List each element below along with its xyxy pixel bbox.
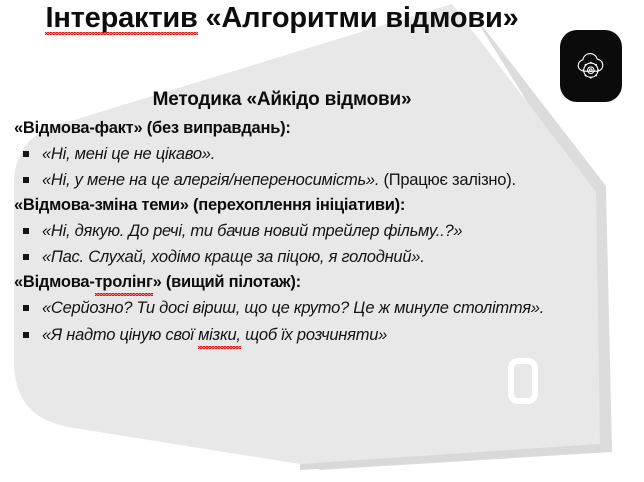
bullet-quote: «Серйозно? Ти досі віриш, що це круто? Ц… <box>42 299 544 317</box>
cloud-gear-icon-badge[interactable] <box>560 30 622 102</box>
bullet-quote-flagged-word: мізки, <box>198 322 241 348</box>
section-bullet-list: «Ні, дякую. До речі, ти бачив новий трей… <box>12 218 636 270</box>
section-heading-prefix: «Відмова- <box>14 273 95 291</box>
slide-canvas: Інтерактив «Алгоритми відмови» Методика … <box>0 0 644 482</box>
section-bullet-list: «Ні, мені це не цікаво». «Ні, у мене на … <box>12 141 636 193</box>
slide-title-rest: «Алгоритми відмови» <box>198 2 519 34</box>
bullet-note: (Працює залізно). <box>379 171 516 189</box>
cloud-gear-icon <box>571 46 611 86</box>
slide-title: Інтерактив «Алгоритми відмови» <box>32 2 532 35</box>
slide-title-flagged-word: Інтерактив <box>45 2 197 35</box>
list-item: «Я надто ціную свої мізки, щоб їх розчин… <box>12 322 636 348</box>
section-heading: «Відмова-зміна теми» (перехоплення ініці… <box>12 193 636 218</box>
slide-subtitle: Методика «Айкідо відмови» <box>32 89 532 111</box>
slide-body: «Відмова-факт» (без виправдань): «Ні, ме… <box>12 116 636 348</box>
bullet-quote-pre: «Я надто ціную свої <box>42 326 198 344</box>
decorative-rounded-rect <box>508 358 538 404</box>
section-heading-suffix: » (вищий пілотаж): <box>153 273 301 291</box>
bullet-quote-post: щоб їх розчиняти» <box>241 326 387 344</box>
section-heading: «Відмова-тролінг» (вищий пілотаж): <box>12 270 636 295</box>
list-item: «Ні, дякую. До речі, ти бачив новий трей… <box>12 218 636 244</box>
section-refusal-topic-change: «Відмова-зміна теми» (перехоплення ініці… <box>12 193 636 270</box>
bullet-quote: «Пас. Слухай, ходімо краще за піцою, я г… <box>42 248 425 266</box>
section-bullet-list: «Серйозно? Ти досі віриш, що це круто? Ц… <box>12 295 636 347</box>
list-item: «Ні, у мене на це алергія/непереносиміст… <box>12 167 636 193</box>
list-item: «Серйозно? Ти досі віриш, що це круто? Ц… <box>12 295 636 321</box>
list-item: «Ні, мені це не цікаво». <box>12 141 636 167</box>
polygon-edge-highlight <box>300 444 600 470</box>
bullet-quote: «Ні, у мене на це алергія/непереносиміст… <box>42 171 379 189</box>
section-heading-flagged-word: тролінг <box>95 270 153 295</box>
bullet-quote: «Ні, дякую. До речі, ти бачив новий трей… <box>42 222 462 240</box>
bullet-quote: «Ні, мені це не цікаво». <box>42 145 215 163</box>
section-refusal-trolling: «Відмова-тролінг» (вищий пілотаж): «Серй… <box>12 270 636 347</box>
section-refusal-fact: «Відмова-факт» (без виправдань): «Ні, ме… <box>12 116 636 193</box>
section-heading: «Відмова-факт» (без виправдань): <box>12 116 636 141</box>
list-item: «Пас. Слухай, ходімо краще за піцою, я г… <box>12 244 636 270</box>
